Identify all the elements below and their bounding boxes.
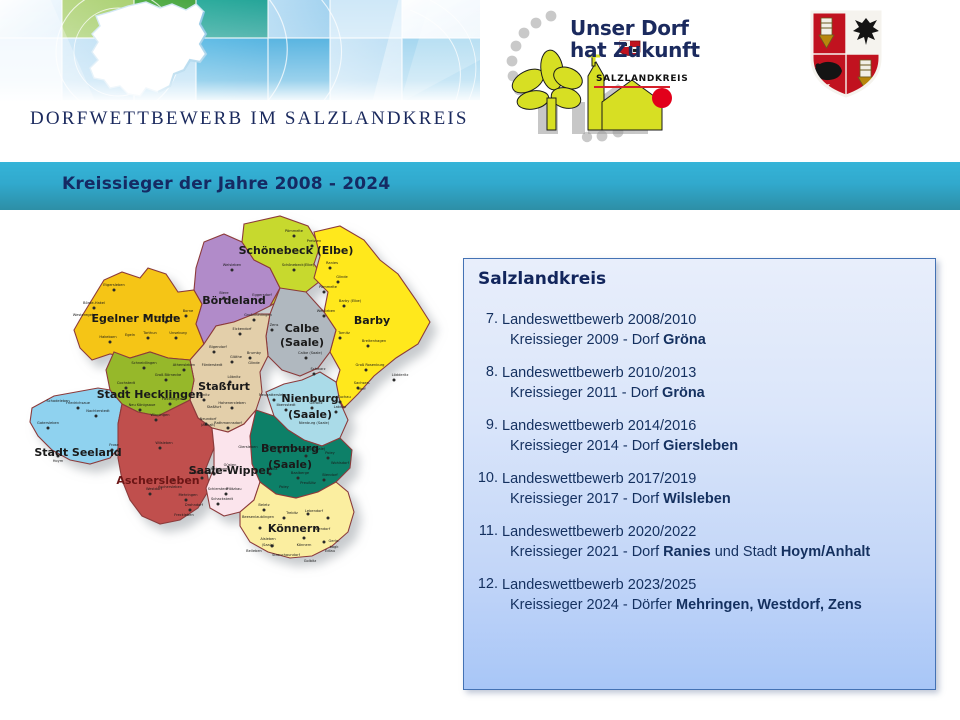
entry-number: 12. <box>472 576 498 592</box>
svg-text:Rathmannsdorf: Rathmannsdorf <box>214 421 242 425</box>
svg-text:Beesenlaublingen: Beesenlaublingen <box>242 515 274 519</box>
entry-winner-prefix: Kreissieger 2024 - Dörfer <box>510 597 676 613</box>
svg-text:Winningen: Winningen <box>150 413 169 417</box>
svg-text:Hohenerxleben: Hohenerxleben <box>218 401 245 405</box>
svg-text:Giersleben: Giersleben <box>238 445 257 449</box>
svg-text:Pömmelte: Pömmelte <box>319 285 338 289</box>
entry-winner-prefix: Kreissieger 2009 - Dorf <box>510 332 663 348</box>
svg-text:Preußlitz: Preußlitz <box>300 481 316 485</box>
svg-text:Wolmirsleben: Wolmirsleben <box>154 315 178 319</box>
svg-text:Wilsleben: Wilsleben <box>155 441 172 445</box>
section-title-bar: Kreissieger der Jahre 2008 - 2024 <box>0 162 960 210</box>
svg-text:Pretzien: Pretzien <box>307 239 322 243</box>
svg-text:Hecklingen: Hecklingen <box>162 397 182 401</box>
svg-text:Löbnitz: Löbnitz <box>228 375 241 379</box>
svg-text:Brumby: Brumby <box>247 351 262 355</box>
list-item: 11. Landeswettbewerb 2020/2022 Kreissieg… <box>472 523 927 562</box>
entry-winner-prefix: Kreissieger 2017 - Dorf <box>510 491 663 507</box>
svg-text:Friedrichsaue: Friedrichsaue <box>66 401 91 405</box>
svg-text:Drohndorf: Drohndorf <box>185 503 204 507</box>
entry-number: 8. <box>472 364 498 380</box>
map-label-stassfurt: Staßfurt <box>198 380 250 393</box>
map-label-nienburg-2: (Saale) <box>288 408 332 421</box>
svg-text:Neu Königsaue: Neu Königsaue <box>129 403 157 407</box>
svg-text:Etgersleben: Etgersleben <box>103 283 125 287</box>
logo-line-1: Unser Dorf <box>570 16 689 40</box>
svg-text:Biere: Biere <box>219 291 229 295</box>
kreissieger-info-panel: Salzlandkreis 7. Landeswettbewerb 2008/2… <box>463 258 936 690</box>
entry-competition: Landeswettbewerb 2010/2013 <box>502 364 927 383</box>
entry-competition: Landeswettbewerb 2023/2025 <box>502 576 927 595</box>
svg-text:Lödderitz: Lödderitz <box>392 373 409 377</box>
svg-text:Schwarz: Schwarz <box>310 367 325 371</box>
entry-winner: Kreissieger 2009 - Dorf Gröna <box>502 330 927 350</box>
svg-text:Unseburg: Unseburg <box>169 331 186 335</box>
entry-winner: Kreissieger 2014 - Dorf Giersleben <box>502 436 927 456</box>
svg-text:Schönebeck(Elbe): Schönebeck(Elbe) <box>282 263 315 267</box>
entry-winner-village: Giersleben <box>663 438 738 454</box>
svg-text:Schackstedt: Schackstedt <box>211 497 234 501</box>
svg-text:Freckleben: Freckleben <box>174 513 193 517</box>
banner-title: DORFWETTBEWERB IM SALZLANDKREIS <box>30 108 469 130</box>
svg-text:Poley: Poley <box>325 451 335 455</box>
entry-competition: Landeswettbewerb 2008/2010 <box>502 311 927 330</box>
entry-winner-prefix: Kreissieger 2021 - Dorf <box>510 544 663 560</box>
svg-text:Beletz: Beletz <box>258 503 269 507</box>
svg-text:Neugattersleben: Neugattersleben <box>259 393 289 397</box>
svg-text:Osmarsleben: Osmarsleben <box>268 445 292 449</box>
svg-text:Förderstedt: Förderstedt <box>202 363 223 367</box>
svg-text:Frose: Frose <box>109 443 119 447</box>
list-item: 9. Landeswettbewerb 2014/2016 Kreissiege… <box>472 417 927 456</box>
map-label-koennern: Könnern <box>268 522 320 535</box>
entry-winner: Kreissieger 2017 - Dorf Wilsleben <box>502 489 927 509</box>
svg-text:Güsten: Güsten <box>224 463 237 467</box>
svg-text:Barby (Elbe): Barby (Elbe) <box>339 299 362 303</box>
banner-tile-mosaic <box>0 0 480 103</box>
entry-competition: Landeswettbewerb 2020/2022 <box>502 523 927 542</box>
entry-competition: Landeswettbewerb 2014/2016 <box>502 417 927 436</box>
svg-text:Borne: Borne <box>183 309 194 313</box>
svg-text:Pömmelte: Pömmelte <box>285 229 304 233</box>
entry-number: 11. <box>472 523 498 539</box>
map-graphic: Egelner Mulde Bördeland Schönebeck (Elbe… <box>18 212 458 632</box>
svg-text:Lebendorf: Lebendorf <box>305 509 324 513</box>
entry-winner: Kreissieger 2021 - Dorf Ranies und Stadt… <box>502 542 927 562</box>
svg-text:Westeregeln: Westeregeln <box>73 313 95 317</box>
svg-text:Ranies: Ranies <box>326 261 338 265</box>
svg-text:Börde-Hakel: Börde-Hakel <box>83 301 105 305</box>
unser-dorf-hat-zukunft-logo: Unser Dorf hat Zukunft SALZLANDKREIS <box>492 6 692 154</box>
entry-winner-prefix: Kreissieger 2011 - Dorf <box>510 385 662 401</box>
map-label-schoenebeck: Schönebeck (Elbe) <box>239 244 354 257</box>
svg-text:(Saale): (Saale) <box>262 543 275 547</box>
entry-winner-village: Mehringen, Westdorf, Zens <box>676 597 862 613</box>
map-label-calbe-2: (Saale) <box>280 336 324 349</box>
svg-text:Großmühlingen: Großmühlingen <box>244 313 272 317</box>
list-item: 10. Landeswettbewerb 2017/2019 Kreissieg… <box>472 470 927 509</box>
map-label-stadt-hecklingen: Stadt Hecklingen <box>97 388 204 401</box>
entry-winner-village: Ranies <box>663 544 711 560</box>
entry-number: 9. <box>472 417 498 433</box>
svg-text:Schneidlingen: Schneidlingen <box>131 361 156 365</box>
svg-text:Eggersdorf: Eggersdorf <box>252 293 272 297</box>
entry-winner-town: Hoym/Anhalt <box>781 544 870 560</box>
svg-text:Hoym: Hoym <box>53 459 64 463</box>
svg-text:Baalberge: Baalberge <box>291 471 310 475</box>
kreissieger-list: 7. Landeswettbewerb 2008/2010 Kreissiege… <box>472 311 927 629</box>
svg-text:Mehringen: Mehringen <box>178 493 197 497</box>
entry-winner-prefix: Kreissieger 2014 - Dorf <box>510 438 663 454</box>
svg-text:Zuchau: Zuchau <box>337 395 350 399</box>
svg-text:Neundorf: Neundorf <box>200 417 217 421</box>
svg-text:Athensleben: Athensleben <box>173 363 195 367</box>
entry-winner-village: Wilsleben <box>663 491 731 507</box>
svg-text:Alsleben: Alsleben <box>260 537 275 541</box>
svg-text:Tornitz: Tornitz <box>337 331 350 335</box>
svg-text:Strenchaundorf: Strenchaundorf <box>272 553 301 557</box>
svg-text:Bernburg (Saale): Bernburg (Saale) <box>295 447 326 451</box>
svg-text:Golbitz: Golbitz <box>304 559 317 563</box>
list-item: 12. Landeswettbewerb 2023/2025 Kreissieg… <box>472 576 927 615</box>
svg-text:Biendorf: Biendorf <box>322 473 338 477</box>
svg-text:Calbe (Saale): Calbe (Saale) <box>298 351 323 355</box>
svg-text:Nachterstedt: Nachterstedt <box>86 409 110 413</box>
svg-text:Groß Rosenburg: Groß Rosenburg <box>356 363 385 367</box>
svg-text:Gerle-: Gerle- <box>329 539 341 543</box>
svg-text:Mehringen: Mehringen <box>210 467 229 471</box>
svg-text:Nienburg (Saale): Nienburg (Saale) <box>299 421 330 425</box>
svg-text:Latdorf: Latdorf <box>334 405 348 409</box>
entry-competition: Landeswettbewerb 2017/2019 <box>502 470 927 489</box>
svg-text:dorf: dorf <box>358 387 366 391</box>
coat-of-arms-shield <box>806 8 886 100</box>
svg-text:Bigendorf: Bigendorf <box>209 345 227 349</box>
banner-artwork <box>0 0 480 103</box>
svg-text:Tarthun: Tarthun <box>142 331 157 335</box>
logo-subtitle: SALZLANDKREIS <box>596 74 688 84</box>
svg-text:Welsleben: Welsleben <box>223 263 241 267</box>
svg-text:Üllnitz: Üllnitz <box>198 392 209 397</box>
svg-text:Gröna: Gröna <box>267 467 278 471</box>
svg-text:Glöthe: Glöthe <box>230 355 243 359</box>
svg-text:Eickendorf: Eickendorf <box>233 327 253 331</box>
svg-text:Staßfurt: Staßfurt <box>207 405 222 409</box>
svg-text:Trebitz: Trebitz <box>285 511 298 515</box>
list-item: 8. Landeswettbewerb 2010/2013 Kreissiege… <box>472 364 927 403</box>
svg-text:Egeln: Egeln <box>125 333 135 337</box>
svg-text:Sachsen-: Sachsen- <box>354 381 371 385</box>
entry-winner-mid: und Stadt <box>711 544 781 560</box>
svg-text:Groß Börnecke: Groß Börnecke <box>155 373 182 377</box>
svg-text:Glinde: Glinde <box>248 361 260 365</box>
svg-text:Glinde: Glinde <box>336 275 348 279</box>
list-item: 7. Landeswettbewerb 2008/2010 Kreissiege… <box>472 311 927 350</box>
map-label-stadt-seeland: Stadt Seeland <box>34 446 121 459</box>
svg-text:Edlau: Edlau <box>325 549 335 553</box>
entry-winner-village: Gröna <box>663 332 706 348</box>
svg-text:Wohlsdorf: Wohlsdorf <box>331 461 350 465</box>
svg-text:Welsleben: Welsleben <box>317 309 335 313</box>
section-title: Kreissieger der Jahre 2008 - 2024 <box>62 174 390 194</box>
svg-text:(Anhalt): (Anhalt) <box>201 423 216 427</box>
logo-red-dot <box>652 88 672 108</box>
svg-text:Cochstedt: Cochstedt <box>117 381 136 385</box>
svg-text:Zens: Zens <box>270 323 279 327</box>
svg-text:Wiendorf: Wiendorf <box>314 527 331 531</box>
entry-number: 10. <box>472 470 498 486</box>
svg-text:Breitenhagen: Breitenhagen <box>362 339 386 343</box>
svg-text:Groß Schierstedt: Groß Schierstedt <box>189 471 220 475</box>
logo-line-2: hat Zukunft <box>570 38 700 62</box>
svg-text:Poley: Poley <box>279 485 289 489</box>
salzlandkreis-map: Egelner Mulde Bördeland Schönebeck (Elbe… <box>18 212 458 632</box>
svg-text:Plötzkau: Plötzkau <box>226 487 241 491</box>
entry-number: 7. <box>472 311 498 327</box>
svg-text:Belleben: Belleben <box>246 549 262 553</box>
map-label-calbe-1: Calbe <box>285 322 320 335</box>
svg-text:Ilbersstedt: Ilbersstedt <box>276 403 296 407</box>
header-banner: DORFWETTBEWERB IM SALZLANDKREIS <box>0 0 960 160</box>
svg-text:Könnern: Könnern <box>297 543 312 547</box>
svg-text:Gerbitz: Gerbitz <box>309 401 322 405</box>
entry-winner-village: Gröna <box>662 385 705 401</box>
svg-text:Schadeleben: Schadeleben <box>46 399 69 403</box>
svg-text:Gatersleben: Gatersleben <box>37 421 59 425</box>
entry-winner: Kreissieger 2024 - Dörfer Mehringen, Wes… <box>502 595 927 615</box>
svg-text:Westdorf: Westdorf <box>146 487 163 491</box>
entry-winner: Kreissieger 2011 - Dorf Gröna <box>502 383 927 403</box>
svg-text:Hakeborn: Hakeborn <box>99 335 116 339</box>
salzlandkreis-coat-of-arms <box>806 8 886 100</box>
panel-heading: Salzlandkreis <box>478 269 606 289</box>
map-label-barby: Barby <box>354 314 390 327</box>
